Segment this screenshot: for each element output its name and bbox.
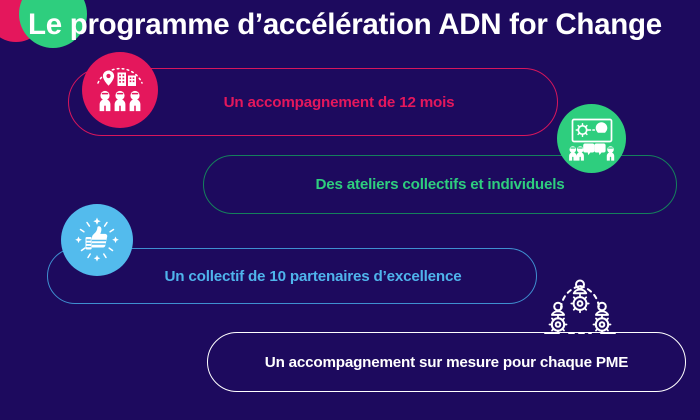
infographic-slide: Le programme d’accélération ADN for Chan… bbox=[0, 0, 700, 420]
thumbs-up-sparkle-icon bbox=[61, 204, 133, 276]
feature-label: Un accompagnement de 12 mois bbox=[172, 94, 455, 111]
feature-label: Des ateliers collectifs et individuels bbox=[315, 176, 564, 193]
page-title: Le programme d’accélération ADN for Chan… bbox=[28, 4, 688, 46]
screen-gear-lightbulb-people-icon bbox=[557, 104, 626, 173]
feature-label: Un collectif de 10 partenaires d’excelle… bbox=[123, 268, 462, 285]
gears-network-people-icon bbox=[543, 276, 617, 342]
feature-label: Un accompagnement sur mesure pour chaque… bbox=[265, 354, 628, 371]
location-pin-buildings-people-icon bbox=[82, 52, 158, 128]
